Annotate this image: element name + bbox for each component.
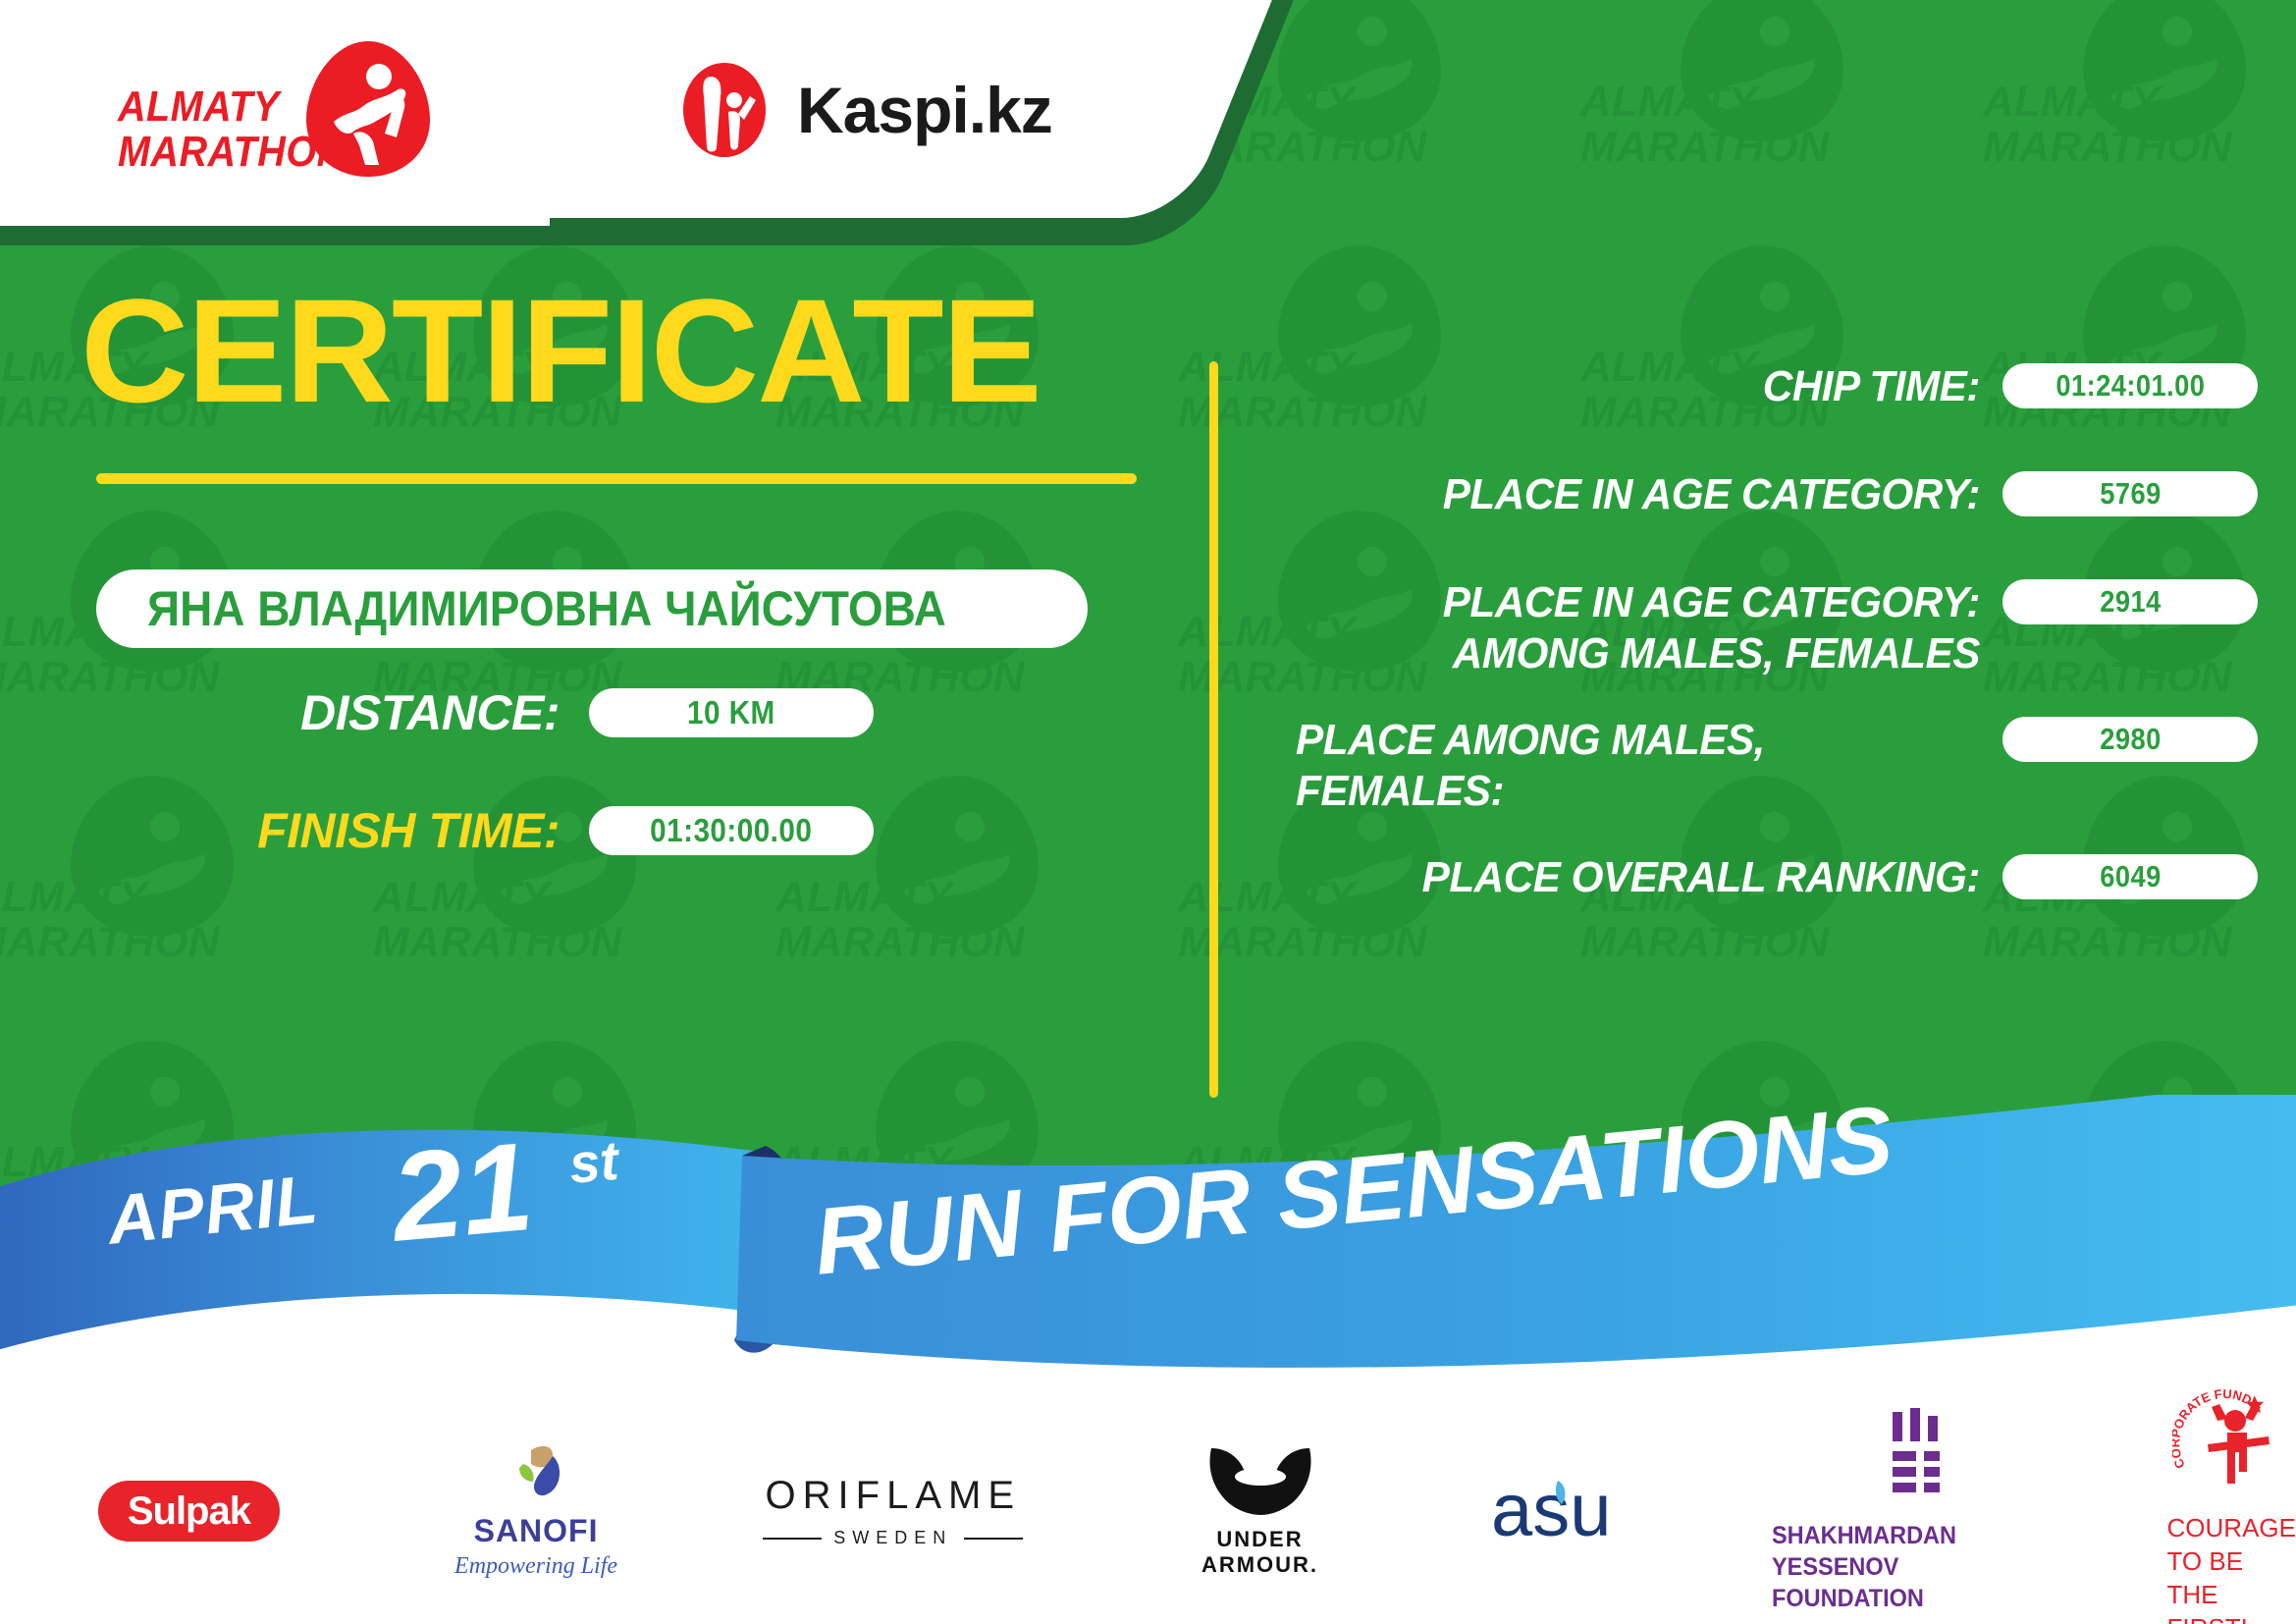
place-among-gender-value-pill: 2980	[2002, 717, 2258, 762]
distance-value-pill: 10 KM	[589, 688, 874, 737]
detail-row-finish-time: FINISH TIME: 01:30:00.00	[0, 795, 1217, 866]
participant-name-field: ЯНА ВЛАДИМИРОВНА ЧАЙСУТОВА	[96, 569, 1088, 648]
finish-time-label: FINISH TIME:	[0, 802, 589, 859]
place-age-category-gender-value: 2914	[2100, 584, 2161, 620]
asu-wordmark-icon: asu	[1487, 1467, 1664, 1555]
left-detail-rows: DISTANCE: 10 KM FINISH TIME: 01:30:00.00	[0, 677, 1217, 913]
yessenov-mark-icon	[1889, 1408, 1951, 1496]
sponsor-logo-courage-fund: CORPORATE FUND COURAGE TO BE THE FIRST!	[2167, 1378, 2296, 1624]
kaspi-logo: Kaspi.kz	[677, 61, 1052, 159]
certificate-body: ALMATY MARATHON ALMATY MARATHON	[0, 0, 2296, 1267]
sanofi-wordmark: SANOFI	[474, 1513, 599, 1549]
yessenov-line2: FOUNDATION	[1772, 1583, 2052, 1614]
sponsor-logo-sanofi: SANOFI Empowering Life	[437, 1442, 635, 1580]
header-logos: ALMATY MARATHON	[0, 0, 1178, 216]
almaty-marathon-logo: ALMATY MARATHON	[118, 57, 432, 185]
almaty-marathon-line1: ALMATY	[118, 82, 280, 131]
oriflame-wordmark: ORIFLAME	[766, 1474, 1021, 1518]
sanofi-tagline: Empowering Life	[454, 1553, 617, 1580]
detail-row-distance: DISTANCE: 10 KM	[0, 677, 1217, 748]
result-row-place-age-category-gender: PLACE IN AGE CATEGORY:AMONG MALES, FEMAL…	[1266, 577, 2258, 679]
under-armour-icon	[1201, 1444, 1319, 1519]
place-overall-value-pill: 6049	[2002, 854, 2258, 899]
courage-line1: COURAGE	[2167, 1511, 2296, 1544]
chip-time-label: CHIP TIME:	[1296, 361, 2002, 412]
distance-value: 10 KM	[687, 694, 775, 731]
place-overall-label: PLACE OVERALL RANKING:	[1296, 852, 2002, 903]
kaspi-wordmark: Kaspi.kz	[797, 73, 1052, 147]
courage-runner-icon: CORPORATE FUND	[2172, 1378, 2290, 1495]
distance-label: DISTANCE:	[0, 684, 589, 741]
sponsor-logo-sulpak: Sulpak	[98, 1481, 280, 1542]
under-armour-wordmark: UNDER ARMOUR.	[1160, 1527, 1359, 1578]
sponsor-logo-under-armour: UNDER ARMOUR.	[1160, 1444, 1359, 1578]
result-row-place-age-category: PLACE IN AGE CATEGORY: 5769	[1266, 469, 2258, 542]
vertical-divider	[1209, 361, 1218, 1098]
sanofi-mark-icon	[502, 1442, 570, 1507]
sponsor-logo-asu: asu	[1487, 1467, 1664, 1555]
chip-time-value-pill: 01:24:01.00	[2002, 363, 2258, 408]
sulpak-wordmark: Sulpak	[128, 1489, 250, 1534]
sponsor-logo-yessenov: SHAKHMARDAN YESSENOV FOUNDATION	[1772, 1408, 2069, 1614]
place-age-category-value: 5769	[2100, 476, 2161, 512]
courage-wordmark: COURAGE TO BE THE FIRST!	[2167, 1511, 2296, 1624]
kaspi-people-icon	[677, 61, 772, 159]
finish-time-value-pill: 01:30:00.00	[589, 806, 874, 855]
participant-name: ЯНА ВЛАДИМИРОВНА ЧАЙСУТОВА	[147, 580, 946, 637]
courage-line2: TO BE	[2167, 1544, 2296, 1578]
place-overall-value: 6049	[2100, 859, 2161, 894]
oriflame-rule-left	[763, 1538, 822, 1540]
place-among-gender-label: PLACE AMONG MALES,FEMALES:	[1296, 715, 2002, 817]
sponsor-bar: Sulpak SANOFI Empowering Life ORIFLAME S…	[0, 1398, 2296, 1624]
place-age-category-gender-value-pill: 2914	[2002, 579, 2258, 624]
results-column: CHIP TIME: 01:24:01.00 PLACE IN AGE CATE…	[1266, 361, 2258, 960]
oriflame-sub: SWEDEN	[763, 1528, 1023, 1548]
result-row-chip-time: CHIP TIME: 01:24:01.00	[1266, 361, 2258, 434]
place-age-category-label: PLACE IN AGE CATEGORY:	[1296, 469, 2002, 520]
chip-time-value: 01:24:01.00	[2056, 368, 2205, 404]
certificate-title: CERTIFICATE	[80, 277, 1041, 424]
title-underline	[96, 473, 1137, 484]
oriflame-rule-right	[964, 1538, 1023, 1540]
result-row-place-among-gender: PLACE AMONG MALES,FEMALES: 2980	[1266, 715, 2258, 817]
sponsor-logo-oriflame: ORIFLAME SWEDEN	[763, 1474, 1023, 1548]
result-row-place-overall: PLACE OVERALL RANKING: 6049	[1266, 852, 2258, 925]
place-among-gender-value: 2980	[2100, 722, 2161, 757]
certificate-page: ALMATY MARATHON ALMATY MARATHON	[0, 0, 2296, 1624]
finish-time-value: 01:30:00.00	[650, 812, 812, 849]
runner-drop-icon	[294, 35, 442, 183]
svg-text:asu: asu	[1491, 1469, 1612, 1552]
oriflame-country: SWEDEN	[833, 1528, 952, 1548]
place-age-category-value-pill: 5769	[2002, 471, 2258, 516]
place-age-category-gender-label: PLACE IN AGE CATEGORY:AMONG MALES, FEMAL…	[1296, 577, 2002, 679]
courage-line3: THE FIRST!	[2167, 1578, 2296, 1624]
yessenov-wordmark: SHAKHMARDAN YESSENOV FOUNDATION	[1772, 1520, 2052, 1614]
yessenov-line1: SHAKHMARDAN YESSENOV	[1772, 1520, 2052, 1583]
